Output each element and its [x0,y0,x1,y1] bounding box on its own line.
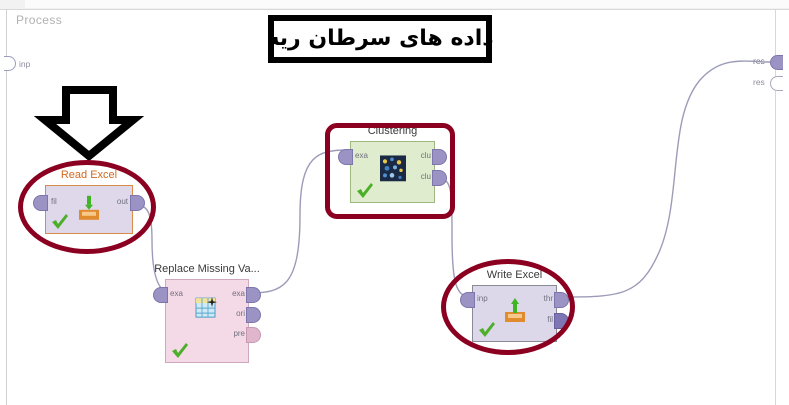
operator-replace-missing-values-port-exa-out-label: exa [232,289,245,298]
operator-replace-missing-values-port-exa-out[interactable] [246,287,261,303]
title-banner: داده های سرطان ریه [268,15,492,63]
process-output-port-res-2[interactable] [770,76,783,91]
operator-replace-missing-values-port-exa-in-label: exa [170,289,183,298]
table-sparkle-icon [193,294,221,322]
process-input-port-inp[interactable]: inp [4,56,30,71]
annotation-ellipse-read-excel [18,160,156,254]
process-output-port-res-1[interactable] [770,55,783,70]
panel-label-process: Process [16,13,62,27]
process-input-port-label: inp [19,59,30,69]
operator-replace-missing-values-port-pre-label: pre [233,329,245,338]
process-output-port-res-2-label: res [753,77,765,87]
operator-replace-missing-values-port-ori[interactable] [246,307,261,323]
port-shape-icon [4,56,16,71]
title-banner-text: داده های سرطان ریه [266,28,493,50]
annotation-ellipse-write-excel [441,259,575,355]
window-top-strip [0,0,789,10]
operator-replace-missing-values-port-exa-in[interactable] [153,287,168,303]
operator-replace-missing-values-port-ori-label: ori [236,309,245,318]
operator-replace-missing-values-title: Replace Missing Va... [147,263,267,275]
process-output-port-res-1-label: res [753,56,765,66]
operator-replace-missing-values[interactable]: Replace Missing Va... exa exa ori pre [165,279,249,363]
connection-write-excel-to-process-res [558,61,770,297]
status-ok-check-icon [170,341,190,361]
operator-replace-missing-values-port-pre[interactable] [246,327,261,343]
process-canvas: Process inp res res داده های سرطان ریه R… [0,0,789,405]
annotation-ellipse-clustering [325,123,455,219]
window-top-strip-inner [25,0,789,8]
down-arrow-annotation [45,90,133,156]
